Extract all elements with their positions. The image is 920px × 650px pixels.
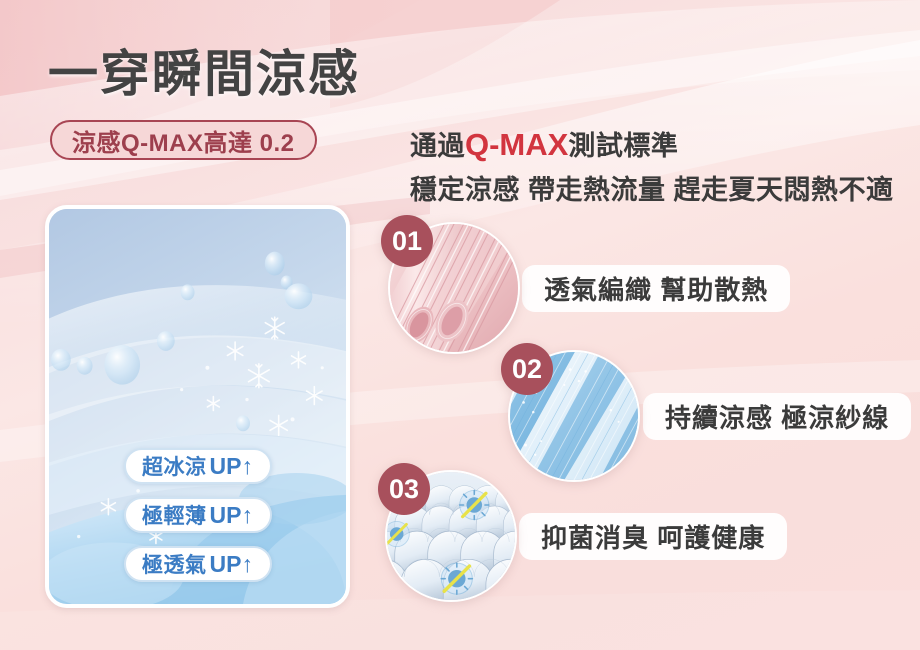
- feature-02-number-badge: 02: [501, 343, 553, 395]
- qmax-intro-prefix: 通過: [410, 131, 465, 161]
- feature-01-image-circle: 01: [388, 222, 520, 354]
- feature-03-number-badge: 03: [378, 463, 430, 515]
- feature-01-text: 透氣編織 幫助散熱: [522, 265, 790, 312]
- feature-item-03: 03 抑菌消臭 呵護健康: [385, 470, 787, 602]
- up-badge-cooling-suffix: UP↑: [210, 453, 253, 480]
- qmax-intro-line-2: 穩定涼感 帶走熱流量 趕走夏天悶熱不適: [410, 168, 894, 207]
- up-badge-cooling-label: 超冰涼: [142, 451, 207, 481]
- feature-03-image-circle: 03: [385, 470, 517, 602]
- bacteria-blocked-icon-3: [387, 521, 409, 546]
- feature-02-text: 持續涼感 極涼紗線: [643, 393, 911, 440]
- qmax-value-badge: 涼感Q-MAX高達 0.2: [50, 120, 317, 160]
- qmax-value-badge-label: 涼感Q-MAX高達 0.2: [72, 123, 295, 158]
- up-badge-breathable: 極透氣UP↑: [124, 546, 272, 582]
- hero-image-panel: 超冰涼UP↑ 極輕薄UP↑ 極透氣UP↑: [45, 205, 350, 608]
- qmax-intro-line-1: 通過Q-MAX測試標準: [410, 126, 894, 163]
- qmax-intro-suffix: 測試標準: [568, 131, 678, 161]
- bacteria-blocked-icon-2: [441, 563, 472, 594]
- qmax-intro-highlight: Q-MAX: [465, 127, 568, 162]
- cooling-fabric-banner: 一穿瞬間涼感 涼感Q-MAX高達 0.2 通過Q-MAX測試標準 穩定涼感 帶走…: [0, 0, 920, 650]
- feature-item-01: 01 透氣編織 幫助散熱: [388, 222, 790, 354]
- qmax-intro-text: 通過Q-MAX測試標準 穩定涼感 帶走熱流量 趕走夏天悶熱不適: [410, 126, 894, 207]
- bacteria-blocked-icon-1: [460, 490, 489, 519]
- feature-02-image-circle: 02: [508, 350, 640, 482]
- up-badge-cooling: 超冰涼UP↑: [124, 448, 272, 484]
- feature-01-number-badge: 01: [381, 215, 433, 267]
- feature-item-02: 02 持續涼感 極涼紗線: [508, 350, 911, 482]
- up-badge-lightweight-label: 極輕薄: [142, 500, 207, 530]
- up-badge-lightweight-suffix: UP↑: [210, 502, 253, 529]
- up-badge-list: 超冰涼UP↑ 極輕薄UP↑ 極透氣UP↑: [49, 448, 346, 582]
- up-badge-lightweight: 極輕薄UP↑: [124, 497, 272, 533]
- page-title: 一穿瞬間涼感: [48, 34, 360, 106]
- feature-03-text: 抑菌消臭 呵護健康: [519, 513, 787, 560]
- up-badge-breathable-label: 極透氣: [142, 549, 207, 579]
- up-badge-breathable-suffix: UP↑: [210, 551, 253, 578]
